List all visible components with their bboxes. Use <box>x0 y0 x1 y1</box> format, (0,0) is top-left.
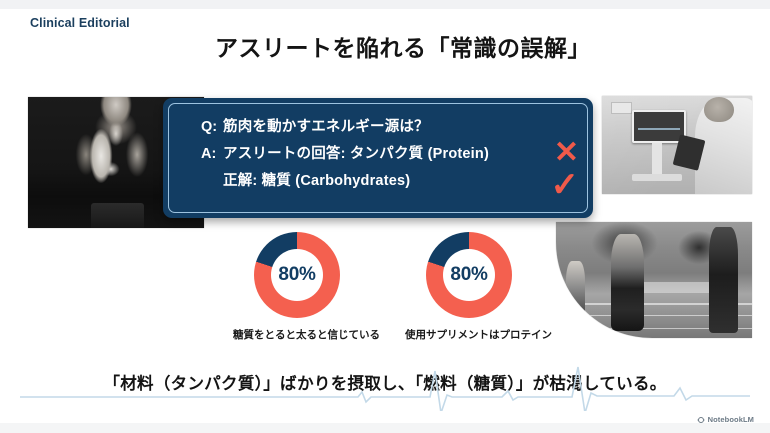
donut-chart-group: 80% 糖質をとると太ると信じている 80% 使用サプリメントはプロテイン <box>203 232 563 342</box>
donut-ring: 80% <box>254 232 340 318</box>
eyebrow-label: Clinical Editorial <box>30 16 130 30</box>
donut-value-label: 80% <box>450 264 487 286</box>
runners-photo <box>556 222 752 338</box>
monitor-screen <box>632 110 686 143</box>
runner-figure <box>709 227 738 334</box>
donut-chart-1: 80% 糖質をとると太ると信じている <box>233 232 361 342</box>
qa-answer-row: A: アスリートの回答: タンパク質 (Protein) <box>201 142 577 163</box>
slide-canvas: Clinical Editorial アスリートを陥れる「常識の誤解」 Q: 筋… <box>0 0 770 433</box>
runner-figure <box>566 261 586 326</box>
check-icon: ✓ <box>551 168 580 202</box>
qa-correct-text: 正解: 糖質 (Carbohydrates) <box>223 169 410 190</box>
donut-value-label: 80% <box>278 264 315 286</box>
runner-figure <box>611 234 644 331</box>
ecg-line-icon <box>20 363 750 411</box>
cross-icon: ✕ <box>554 138 579 168</box>
qa-answer-text: アスリートの回答: タンパク質 (Protein) <box>223 142 489 163</box>
qa-callout-card: Q: 筋肉を動かすエネルギー源は？ A: アスリートの回答: タンパク質 (Pr… <box>163 98 593 218</box>
monitor-stand <box>652 143 663 176</box>
qa-question-text: 筋肉を動かすエネルギー源は？ <box>223 115 429 136</box>
clinic-device-icon <box>611 102 632 114</box>
page-title: アスリートを陥れる「常識の誤解」 <box>0 29 770 63</box>
track-fence <box>638 282 712 292</box>
qa-answer-tag: A: <box>201 146 223 162</box>
donut-center: 80% <box>271 249 323 301</box>
qa-question-row: Q: 筋肉を動かすエネルギー源は？ <box>201 115 577 136</box>
athlete-photo-detail <box>91 203 144 228</box>
top-letterbox-band <box>0 0 770 9</box>
bottom-letterbox-band <box>0 423 770 433</box>
clinic-monitor-photo <box>602 96 752 194</box>
qa-text-block: Q: 筋肉を動かすエネルギー源は？ A: アスリートの回答: タンパク質 (Pr… <box>201 115 577 196</box>
monitor-base <box>632 174 682 181</box>
donut-center: 80% <box>443 249 495 301</box>
donut-ring: 80% <box>426 232 512 318</box>
clinician-head <box>704 97 734 122</box>
qa-question-tag: Q: <box>201 119 223 135</box>
donut-chart-2: 80% 使用サプリメントはプロテイン <box>405 232 533 342</box>
qa-correct-row: 正解: 糖質 (Carbohydrates) <box>201 169 577 190</box>
donut-caption: 使用サプリメントはプロテイン <box>405 327 533 342</box>
donut-caption: 糖質をとると太ると信じている <box>233 327 361 342</box>
